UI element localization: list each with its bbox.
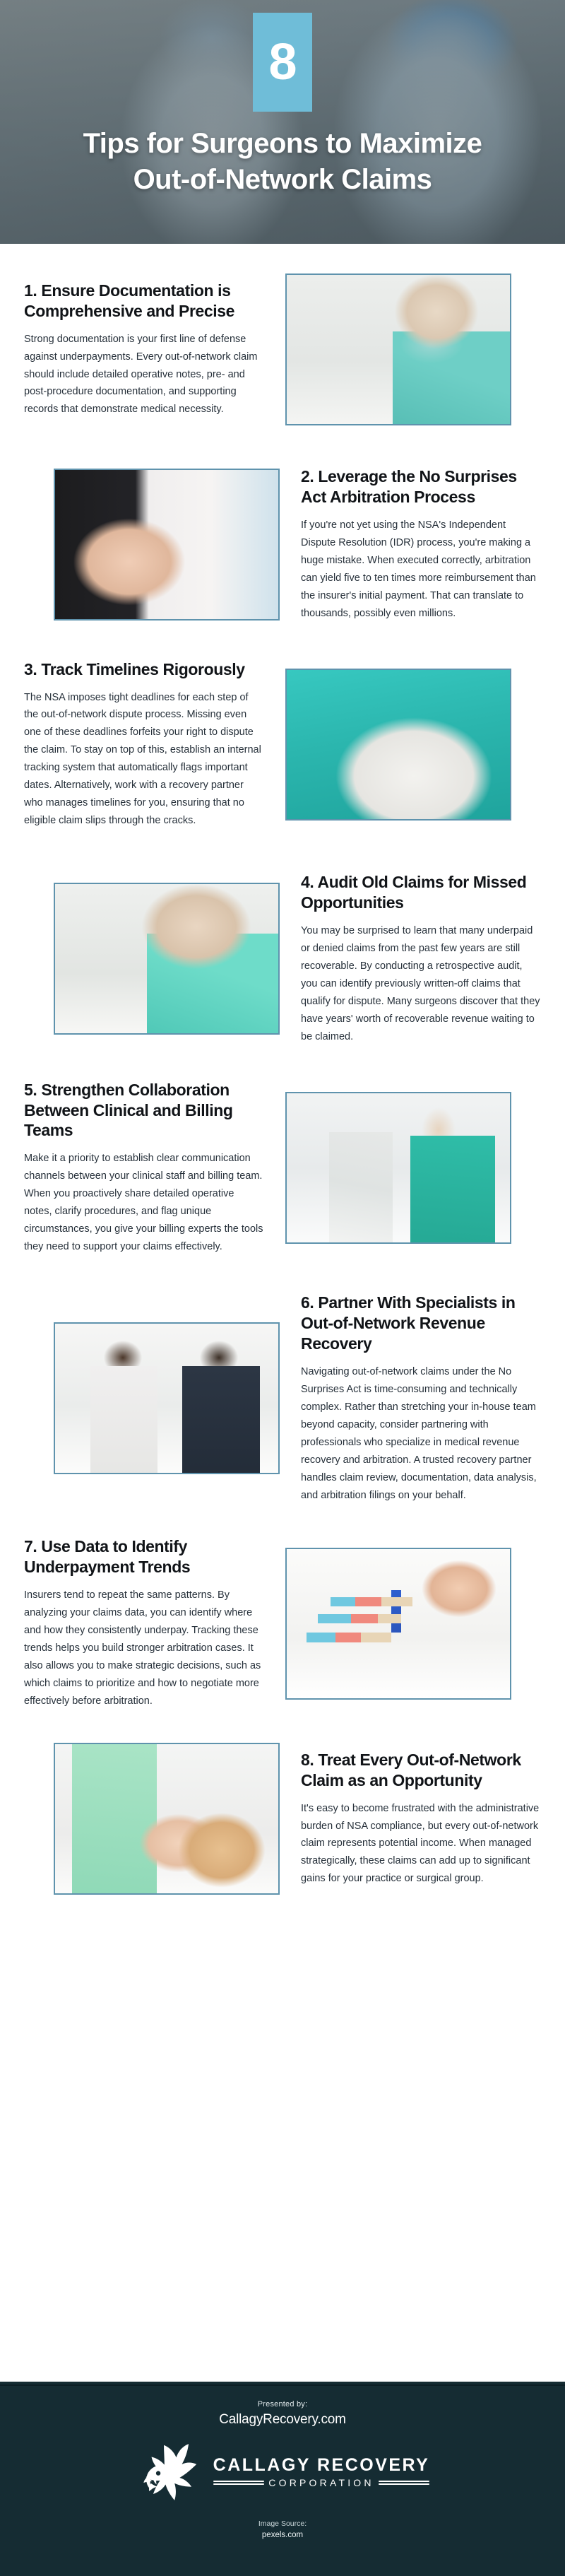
tip-text-block: 7. Use Data to Identify Underpayment Tre… [24,1536,264,1710]
tip-title: 4. Audit Old Claims for Missed Opportuni… [301,872,541,913]
tip-photo [54,883,280,1035]
tip-photo [285,669,511,821]
logo-swoosh-right-icon [379,2481,430,2485]
tip-body: If you're not yet using the NSA's Indepe… [301,517,541,623]
tip-photo [285,1548,511,1700]
tip-item-1: 1. Ensure Documentation is Comprehensive… [0,274,565,425]
brand-logo-wordmark: CALLAGY RECOVERY CORPORATION [213,2457,430,2488]
photo-nurse-holding-patient-hands [55,1744,278,1893]
tip-item-4: 4. Audit Old Claims for Missed Opportuni… [0,872,565,1046]
photo-hand-with-pen-over-bar-chart-report [287,1549,510,1698]
tip-photo [285,1092,511,1244]
photo-two-medical-staff-reviewing-chart-in-hallway [287,1093,510,1242]
logo-swoosh-left-icon [213,2481,265,2485]
tip-title: 7. Use Data to Identify Underpayment Tre… [24,1536,264,1577]
tip-title: 2. Leverage the No Surprises Act Arbitra… [301,466,541,507]
hero-count-badge: 8 [253,13,312,112]
tip-item-8: 8. Treat Every Out-of-Network Claim as a… [0,1743,565,1895]
tip-text-block: 8. Treat Every Out-of-Network Claim as a… [301,1750,541,1888]
tip-title: 1. Ensure Documentation is Comprehensive… [24,281,264,322]
page-title: Tips for Surgeons to Maximize Out-of-Net… [14,126,551,198]
photo-hand-signing-document-with-pen [55,470,278,619]
infographic-page: 8 Tips for Surgeons to Maximize Out-of-N… [0,0,565,2576]
tip-item-7: 7. Use Data to Identify Underpayment Tre… [0,1536,565,1710]
tips-list: 1. Ensure Documentation is Comprehensive… [0,274,565,1895]
photo-gloved-hands-holding-clipboard [287,670,510,819]
photo-clinician-stamping-paperwork [55,884,278,1033]
tip-photo [54,1322,280,1474]
footer: Presented by: CallagyRecovery.com CALLAG… [0,2382,565,2576]
tip-item-3: 3. Track Timelines RigorouslyThe NSA imp… [0,659,565,830]
brand-name-primary: CALLAGY RECOVERY [213,2455,430,2475]
tip-text-block: 6. Partner With Specialists in Out-of-Ne… [301,1293,541,1504]
tip-title: 6. Partner With Specialists in Out-of-Ne… [301,1293,541,1354]
tip-item-2: 2. Leverage the No Surprises Act Arbitra… [0,466,565,623]
photo-two-professionals-with-tablet [55,1324,278,1473]
tip-text-block: 1. Ensure Documentation is Comprehensive… [24,281,264,419]
hero-header: 8 Tips for Surgeons to Maximize Out-of-N… [0,0,565,244]
tip-photo [54,469,280,621]
tip-photo [54,1743,280,1895]
tip-text-block: 3. Track Timelines RigorouslyThe NSA imp… [24,659,264,830]
tip-body: It's easy to become frustrated with the … [301,1800,541,1888]
lion-head-icon [136,2442,203,2503]
brand-website[interactable]: CallagyRecovery.com [0,2412,565,2428]
image-source-label: Image Source: [0,2519,565,2528]
tip-photo [285,274,511,425]
tip-text-block: 4. Audit Old Claims for Missed Opportuni… [301,872,541,1046]
page-title-line-1: Tips for Surgeons to Maximize [83,128,482,159]
tip-item-5: 5. Strengthen Collaboration Between Clin… [0,1080,565,1257]
tip-text-block: 2. Leverage the No Surprises Act Arbitra… [301,466,541,623]
tip-body: Navigating out-of-network claims under t… [301,1363,541,1505]
tip-body: The NSA imposes tight deadlines for each… [24,689,264,830]
image-source-value[interactable]: pexels.com [0,2531,565,2539]
tip-title: 5. Strengthen Collaboration Between Clin… [24,1080,264,1141]
tip-title: 3. Track Timelines Rigorously [24,659,264,680]
page-title-line-2: Out-of-Network Claims [133,164,432,195]
footer-divider [0,2384,565,2386]
tip-body: You may be surprised to learn that many … [301,922,541,1046]
photo-doctor-writing-notes-at-desk [287,275,510,424]
tip-text-block: 5. Strengthen Collaboration Between Clin… [24,1080,264,1257]
tip-body: Insurers tend to repeat the same pattern… [24,1587,264,1710]
presented-by-label: Presented by: [0,2400,565,2409]
tip-title: 8. Treat Every Out-of-Network Claim as a… [301,1750,541,1791]
brand-name-secondary: CORPORATION [268,2478,374,2488]
tip-item-6: 6. Partner With Specialists in Out-of-Ne… [0,1293,565,1504]
brand-logo: CALLAGY RECOVERY CORPORATION [0,2442,565,2503]
tip-body: Strong documentation is your first line … [24,331,264,419]
tip-body: Make it a priority to establish clear co… [24,1150,264,1256]
